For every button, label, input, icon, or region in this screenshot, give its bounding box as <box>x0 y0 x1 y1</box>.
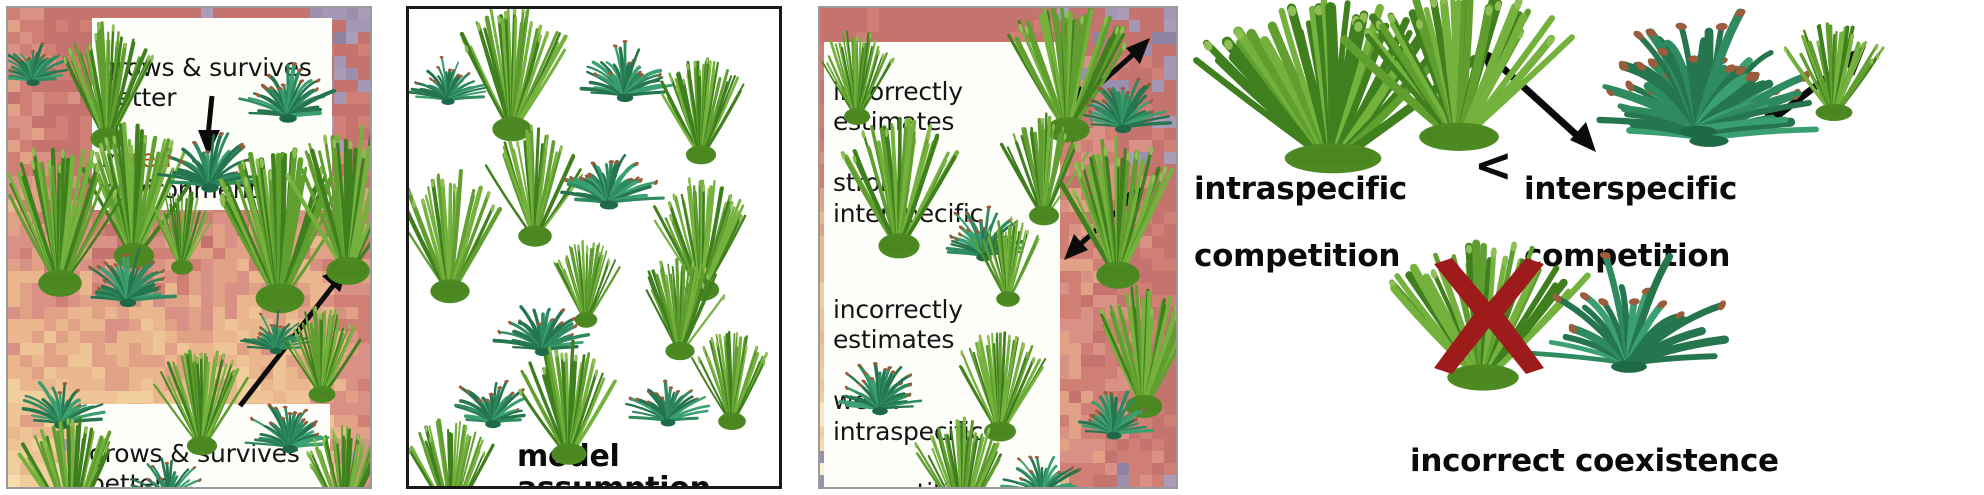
label-line-1: intraspecific <box>1194 171 1407 207</box>
grass-plant-green <box>1066 148 1170 284</box>
grass-plant-teal-flowering <box>80 236 176 312</box>
grass-plant-green <box>406 179 497 299</box>
caption-line-1: incorrect coexistence <box>1410 443 1779 479</box>
grass-plant-green <box>166 356 238 452</box>
panel-real-landscape: grows & survives better in red environme… <box>6 6 372 489</box>
grass-plant-green <box>1790 32 1878 118</box>
grass-plant-teal-flowering <box>1076 64 1170 138</box>
grass-plant-teal-flowering <box>495 285 591 361</box>
grass-plant-green <box>826 38 888 122</box>
red-x-icon <box>1424 256 1554 376</box>
grass-plant-green <box>296 140 372 280</box>
grass-plant-teal-flowering <box>1524 268 1734 380</box>
grass-plant-green <box>1364 4 1554 146</box>
label-line-1: interspecific <box>1524 171 1737 207</box>
label-line-2: competition <box>1194 238 1400 274</box>
grass-plant-green <box>699 339 765 427</box>
panel-misestimated-competition: incorrectly estimates strong interspecif… <box>818 6 1178 489</box>
figure-root: grows & survives better in red environme… <box>0 0 1984 495</box>
grass-plant-green <box>980 226 1036 304</box>
caption-incorrect-coexistence-prediction: incorrect coexistence prediction <box>1410 412 1840 495</box>
grass-plant-teal-flowering <box>6 28 72 90</box>
grass-plant-teal-flowering <box>1000 438 1084 489</box>
grass-plant-green <box>926 428 1000 489</box>
grass-plant-teal-flowering <box>1588 40 1808 144</box>
grass-plant-green <box>465 15 559 137</box>
grass-plant-green <box>30 428 114 489</box>
grass-plant-green <box>415 427 489 489</box>
grass-plant-teal-flowering <box>1070 374 1158 444</box>
grass-plant-teal-flowering <box>577 31 673 107</box>
grass-plant-green <box>308 432 372 489</box>
grass-plant-green <box>527 353 611 461</box>
grass-plant-green <box>850 128 948 254</box>
grass-plant-teal-flowering <box>555 131 663 215</box>
panel-incorrect-coexistence: intraspecific competition < interspecifi… <box>1184 0 1984 495</box>
grass-plant-teal-flowering <box>128 444 210 489</box>
panel-model-assumption: model assumption <box>406 6 782 489</box>
grass-plant-green <box>665 65 737 161</box>
grass-plant-teal-flowering <box>834 346 926 420</box>
